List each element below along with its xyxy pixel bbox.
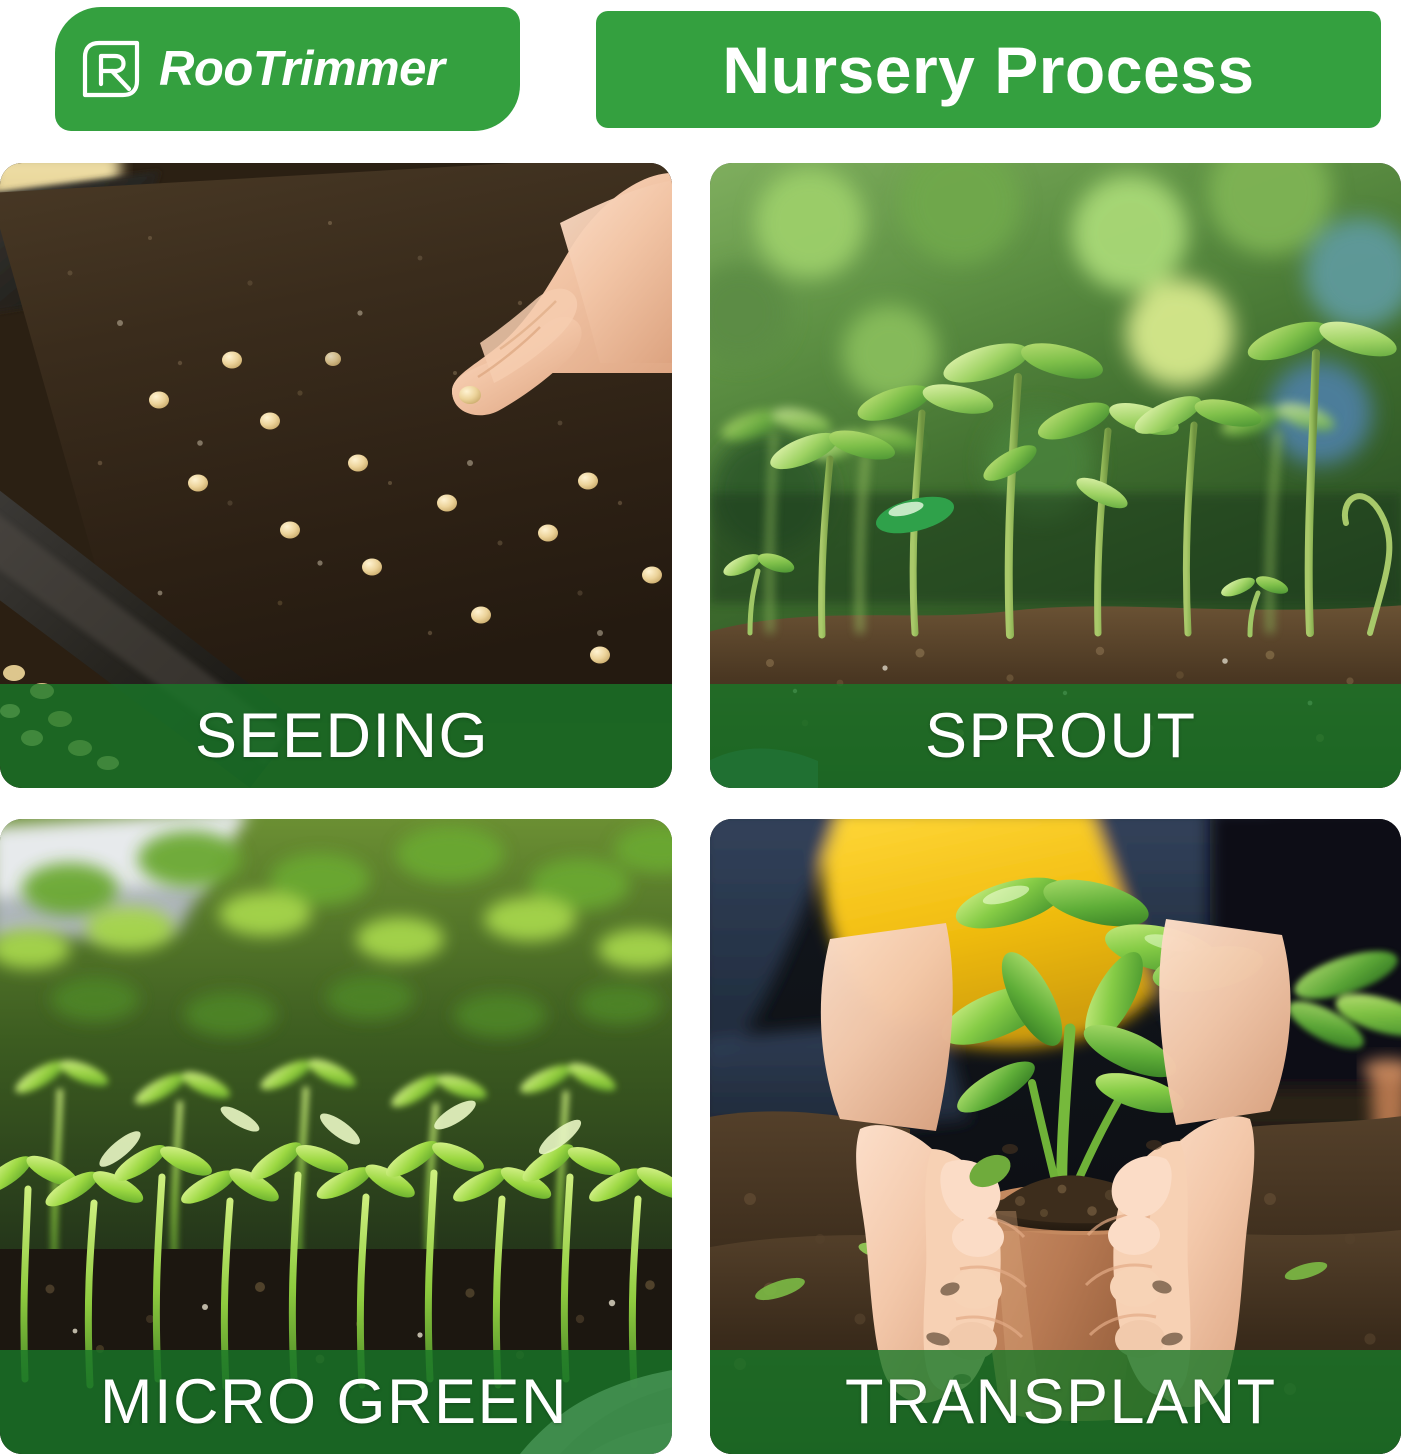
caption-band-seeding: SEEDING: [0, 684, 672, 788]
process-step-sprout[interactable]: SPROUT: [710, 163, 1401, 788]
process-step-transplant[interactable]: TRANSPLANT: [710, 819, 1401, 1454]
process-step-seeding[interactable]: SEEDING: [0, 163, 672, 788]
caption-seeding: SEEDING: [195, 705, 489, 768]
page-header: RooTrimmer Nursery Process: [0, 0, 1401, 150]
process-step-micro-green[interactable]: MICRO GREEN: [0, 819, 672, 1454]
caption-band-micro-green: MICRO GREEN: [0, 1350, 672, 1454]
caption-micro-green: MICRO GREEN: [100, 1371, 568, 1434]
caption-band-sprout: SPROUT: [710, 684, 1401, 788]
caption-transplant: TRANSPLANT: [845, 1371, 1277, 1434]
brand-name: RooTrimmer: [159, 41, 444, 97]
page-title-banner: Nursery Process: [596, 11, 1381, 128]
caption-band-transplant: TRANSPLANT: [710, 1350, 1401, 1454]
leaf-r-monogram-icon: [79, 37, 143, 101]
process-step-grid: SEEDING: [0, 163, 1401, 1454]
page-title: Nursery Process: [722, 37, 1254, 103]
caption-sprout: SPROUT: [925, 705, 1197, 768]
brand-logo: RooTrimmer: [55, 7, 520, 131]
